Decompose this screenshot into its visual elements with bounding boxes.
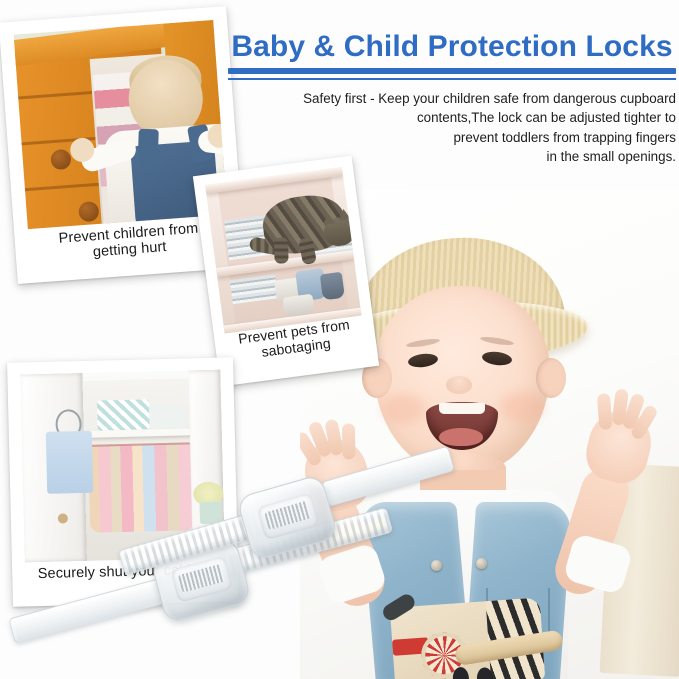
baby-cheek-right [500, 392, 544, 422]
finger [597, 393, 612, 430]
subtitle-line: in the small openings. [228, 147, 676, 166]
cat-ear [337, 208, 350, 220]
photo-card-cat-shelf: Prevent pets from sabotaging [193, 155, 379, 386]
subtitle-line: contents,The lock can be adjusted tighte… [228, 108, 676, 127]
title-divider-thick [228, 68, 676, 74]
overall-strap [138, 129, 159, 166]
closet-storage-box [149, 404, 186, 429]
page-title: Baby & Child Protection Locks [228, 30, 676, 63]
hanging-clothes [88, 444, 194, 533]
wooden-rocker-toy [389, 582, 563, 679]
cat-leg [274, 237, 289, 263]
header-block: Baby & Child Protection Locks Safety fir… [228, 30, 676, 167]
blue-tote-bag [46, 431, 94, 494]
photo-cat-shelf [205, 167, 361, 334]
baby-tongue [439, 428, 483, 446]
baby-ear-right [536, 358, 566, 398]
subtitle-line: Safety first - Keep your children safe f… [228, 89, 676, 108]
baby-nose [446, 376, 472, 394]
closet-storage-box [97, 399, 150, 430]
ceramic-cup [320, 272, 345, 301]
subtitle-text: Safety first - Keep your children safe f… [228, 89, 676, 167]
denim-button [476, 558, 487, 569]
subtitle-line: prevent toddlers from trapping fingers [228, 128, 676, 147]
baby-cheek-left [382, 394, 426, 424]
cat-ear [322, 212, 335, 224]
product-infographic: Prevent children from getting hurt [0, 0, 679, 679]
denim-button [431, 560, 442, 571]
finger [342, 423, 356, 459]
baby-teeth [439, 403, 485, 414]
title-divider-thin [228, 78, 676, 80]
